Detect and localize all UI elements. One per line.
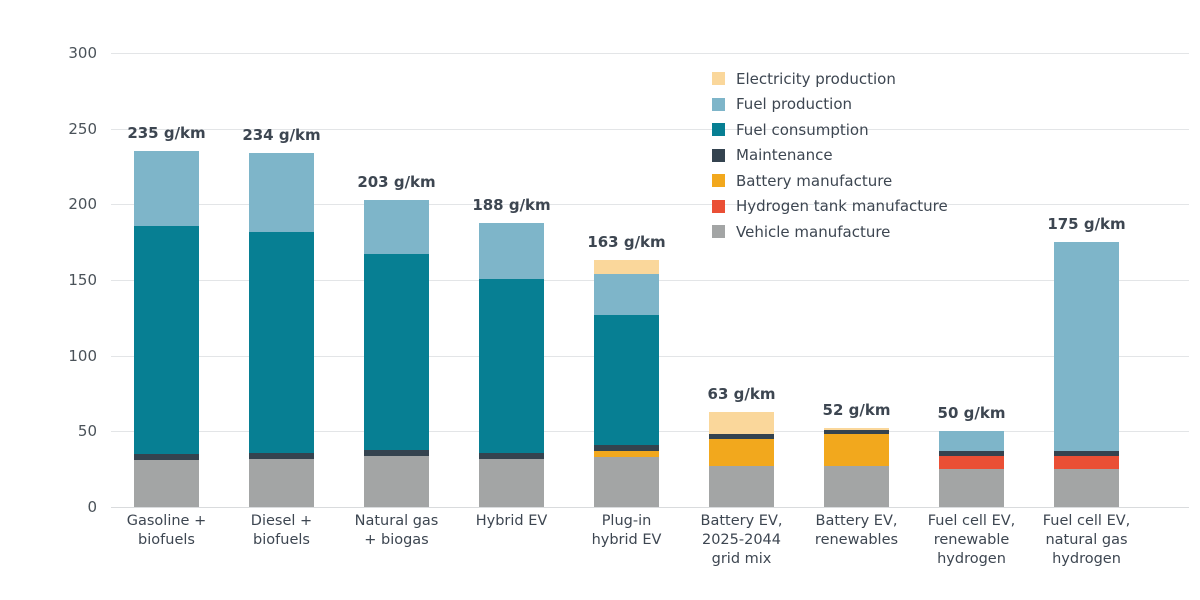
stacked-bar[interactable] (594, 260, 659, 507)
bar-segment-maintenance[interactable] (1054, 451, 1119, 456)
x-axis-label-line: + biogas (337, 531, 457, 550)
bar-segment-fuel-consumption[interactable] (249, 232, 314, 453)
bar-segment-fuel-production[interactable] (479, 223, 544, 279)
legend-item[interactable]: Hydrogen tank manufacture (712, 194, 1012, 220)
x-axis-label: Plug-inhybrid EV (567, 512, 687, 550)
stacked-bar[interactable] (939, 431, 1004, 507)
legend-item[interactable]: Electricity production (712, 66, 1012, 92)
bar-group[interactable]: 175 g/km (1054, 53, 1119, 507)
bar-segment-vehicle-manufacture[interactable] (1054, 469, 1119, 507)
bar-group[interactable]: 203 g/km (364, 53, 429, 507)
stacked-bar[interactable] (1054, 242, 1119, 507)
bar-segment-maintenance[interactable] (479, 453, 544, 459)
bar-total-label: 50 g/km (892, 404, 1052, 422)
bar-segment-electricity-production[interactable] (594, 260, 659, 274)
bar-segment-battery-manufacture[interactable] (709, 439, 774, 466)
bar-segment-maintenance[interactable] (134, 454, 199, 460)
bar-segment-fuel-consumption[interactable] (364, 254, 429, 449)
bar-segment-hydrogen-tank-manufacture[interactable] (939, 456, 1004, 470)
x-axis-label-line: Battery EV, (682, 512, 802, 531)
legend-label: Electricity production (736, 70, 896, 88)
x-axis-label-line: natural gas (1027, 531, 1147, 550)
y-tick-label-50: 50 (49, 422, 97, 440)
bar-segment-vehicle-manufacture[interactable] (594, 457, 659, 507)
bar-segment-maintenance[interactable] (249, 453, 314, 459)
legend-swatch-icon (712, 123, 725, 136)
legend-label: Fuel consumption (736, 121, 869, 139)
x-axis-label: Gasoline +biofuels (107, 512, 227, 550)
bar-group[interactable]: 235 g/km (134, 53, 199, 507)
y-tick-label-300: 300 (49, 44, 97, 62)
legend-item[interactable]: Battery manufacture (712, 168, 1012, 194)
legend-swatch-icon (712, 149, 725, 162)
x-axis-label-line: Fuel cell EV, (912, 512, 1032, 531)
y-tick-label-200: 200 (49, 195, 97, 213)
bar-segment-fuel-production[interactable] (939, 431, 1004, 451)
bar-total-label: 163 g/km (547, 233, 707, 251)
legend-swatch-icon (712, 72, 725, 85)
y-axis-ticks: 050100150200250300 (45, 53, 97, 507)
legend-swatch-icon (712, 200, 725, 213)
x-axis-label: Battery EV,2025-2044grid mix (682, 512, 802, 569)
x-axis-label: Fuel cell EV,natural gashydrogen (1027, 512, 1147, 569)
bar-segment-maintenance[interactable] (709, 434, 774, 439)
legend-swatch-icon (712, 225, 725, 238)
x-axis-label: Hybrid EV (452, 512, 572, 531)
legend-item[interactable]: Maintenance (712, 143, 1012, 169)
bar-segment-vehicle-manufacture[interactable] (939, 469, 1004, 507)
bar-total-label: 203 g/km (317, 173, 477, 191)
stacked-bar[interactable] (479, 223, 544, 508)
bar-segment-fuel-production[interactable] (364, 200, 429, 254)
bar-segment-fuel-production[interactable] (134, 151, 199, 225)
bar-segment-vehicle-manufacture[interactable] (134, 460, 199, 507)
bar-segment-maintenance[interactable] (364, 450, 429, 456)
x-axis-label: Fuel cell EV,renewablehydrogen (912, 512, 1032, 569)
bar-segment-fuel-consumption[interactable] (134, 226, 199, 455)
x-axis-label-line: 2025-2044 (682, 531, 802, 550)
legend-item[interactable]: Fuel production (712, 92, 1012, 118)
bar-segment-fuel-production[interactable] (249, 153, 314, 232)
y-tick-label-150: 150 (49, 271, 97, 289)
x-axis-label-line: Fuel cell EV, (1027, 512, 1147, 531)
x-axis-label: Natural gas+ biogas (337, 512, 457, 550)
bar-segment-vehicle-manufacture[interactable] (709, 466, 774, 507)
x-axis-label-line: Natural gas (337, 512, 457, 531)
x-axis-label: Battery EV,renewables (797, 512, 917, 550)
x-axis-label-line: grid mix (682, 550, 802, 569)
gridline-0 (111, 507, 1189, 508)
legend-swatch-icon (712, 98, 725, 111)
x-axis-label-line: Diesel + (222, 512, 342, 531)
bar-segment-vehicle-manufacture[interactable] (479, 459, 544, 507)
bar-segment-battery-manufacture[interactable] (594, 451, 659, 457)
bar-segment-fuel-production[interactable] (1054, 242, 1119, 451)
x-axis-label-line: hydrogen (1027, 550, 1147, 569)
bar-total-label: 188 g/km (432, 196, 592, 214)
x-axis-label-line: Battery EV, (797, 512, 917, 531)
x-axis-labels: Gasoline +biofuelsDiesel +biofuelsNatura… (111, 512, 1189, 594)
x-axis-label-line: renewables (797, 531, 917, 550)
legend-label: Maintenance (736, 146, 833, 164)
x-axis-label-line: biofuels (107, 531, 227, 550)
bar-segment-maintenance[interactable] (939, 451, 1004, 456)
bar-segment-battery-manufacture[interactable] (824, 434, 889, 466)
chart-container: Life-cycle GHG emissions (g CO2e/km) 050… (0, 0, 1200, 600)
bar-segment-fuel-production[interactable] (594, 274, 659, 315)
stacked-bar[interactable] (364, 200, 429, 507)
plot-area: 235 g/km234 g/km203 g/km188 g/km163 g/km… (111, 53, 1189, 507)
bar-segment-hydrogen-tank-manufacture[interactable] (1054, 456, 1119, 470)
x-axis-label-line: Gasoline + (107, 512, 227, 531)
x-axis-label-line: biofuels (222, 531, 342, 550)
x-axis-label-line: hybrid EV (567, 531, 687, 550)
x-axis-label: Diesel +biofuels (222, 512, 342, 550)
bar-group[interactable]: 163 g/km (594, 53, 659, 507)
bar-group[interactable]: 234 g/km (249, 53, 314, 507)
stacked-bar[interactable] (824, 428, 889, 507)
y-tick-label-0: 0 (49, 498, 97, 516)
bar-segment-electricity-production[interactable] (824, 428, 889, 430)
y-tick-label-100: 100 (49, 347, 97, 365)
bar-segment-fuel-consumption[interactable] (479, 279, 544, 453)
stacked-bar[interactable] (134, 151, 199, 507)
bar-segment-maintenance[interactable] (824, 430, 889, 435)
bar-total-label: 63 g/km (662, 385, 822, 403)
bar-group[interactable]: 188 g/km (479, 53, 544, 507)
bar-segment-fuel-consumption[interactable] (594, 315, 659, 445)
x-axis-label-line: hydrogen (912, 550, 1032, 569)
bar-total-label: 234 g/km (202, 126, 362, 144)
legend-label: Fuel production (736, 95, 852, 113)
legend-label: Battery manufacture (736, 172, 892, 190)
bar-segment-maintenance[interactable] (594, 445, 659, 451)
legend-label: Hydrogen tank manufacture (736, 197, 948, 215)
bar-segment-vehicle-manufacture[interactable] (364, 456, 429, 507)
legend-label: Vehicle manufacture (736, 223, 890, 241)
legend-swatch-icon (712, 174, 725, 187)
bar-segment-electricity-production[interactable] (709, 412, 774, 435)
x-axis-label-line: renewable (912, 531, 1032, 550)
bar-segment-vehicle-manufacture[interactable] (249, 459, 314, 507)
stacked-bar[interactable] (709, 412, 774, 507)
x-axis-label-line: Plug-in (567, 512, 687, 531)
stacked-bar[interactable] (249, 153, 314, 507)
bar-total-label: 175 g/km (1007, 215, 1167, 233)
chart-legend: Electricity productionFuel productionFue… (712, 66, 1012, 245)
legend-item[interactable]: Vehicle manufacture (712, 219, 1012, 245)
bar-segment-vehicle-manufacture[interactable] (824, 466, 889, 507)
legend-item[interactable]: Fuel consumption (712, 117, 1012, 143)
x-axis-label-line: Hybrid EV (452, 512, 572, 531)
